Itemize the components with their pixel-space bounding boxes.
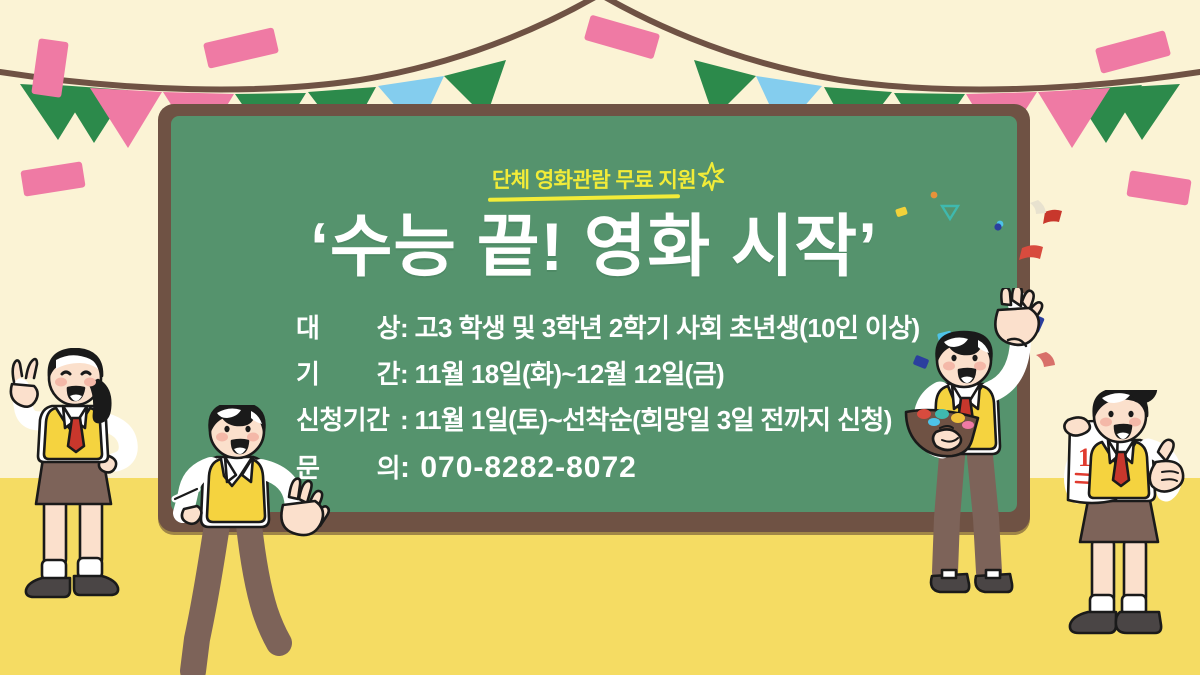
info-line: 문 의 : 070-8282-8072 [296, 453, 996, 483]
star-icon [692, 161, 726, 195]
subtitle-text: 단체 영화관람 무료 지원 [492, 169, 696, 192]
contact-phone-value: : 070-8282-8072 [400, 453, 637, 483]
student-peace-sign-icon [8, 348, 158, 618]
subtitle-container: 단체 영화관람 무료 지원 [171, 170, 1017, 192]
poster-canvas: 단체 영화관람 무료 지원 ‘수능 끝! 영화 시작’ 대 상 : 고3 [0, 0, 1200, 675]
student-thumbs-up-icon: 100 [1058, 390, 1200, 655]
student-with-pen-icon [165, 405, 340, 675]
info-value: : 고3 학생 및 3학년 2학기 사회 초년생(10인 이상) [400, 315, 920, 341]
info-block: 대 상 : 고3 학생 및 3학년 2학기 사회 초년생(10인 이상) 기 간… [296, 315, 996, 503]
info-value: : 11월 18일(화)~12월 12일(금) [400, 361, 724, 387]
info-label: 기 간 [296, 361, 400, 387]
poster-title: ‘수능 끝! 영화 시작’ [310, 212, 878, 283]
subtitle-underline-decoration [488, 194, 680, 202]
info-value: : 11월 1일(토)~선착순(희망일 3일 전까지 신청) [400, 407, 892, 433]
info-line: 신청기간 : 11월 1일(토)~선착순(희망일 3일 전까지 신청) [296, 407, 996, 433]
info-line: 기 간 : 11월 18일(화)~12월 12일(금) [296, 361, 996, 387]
info-line: 대 상 : 고3 학생 및 3학년 2학기 사회 초년생(10인 이상) [296, 315, 996, 341]
info-label: 대 상 [296, 315, 400, 341]
poster-subtitle: 단체 영화관람 무료 지원 [492, 170, 696, 191]
title-container: ‘수능 끝! 영화 시작’ [171, 212, 1017, 283]
student-hand-raised-icon [898, 288, 1048, 618]
